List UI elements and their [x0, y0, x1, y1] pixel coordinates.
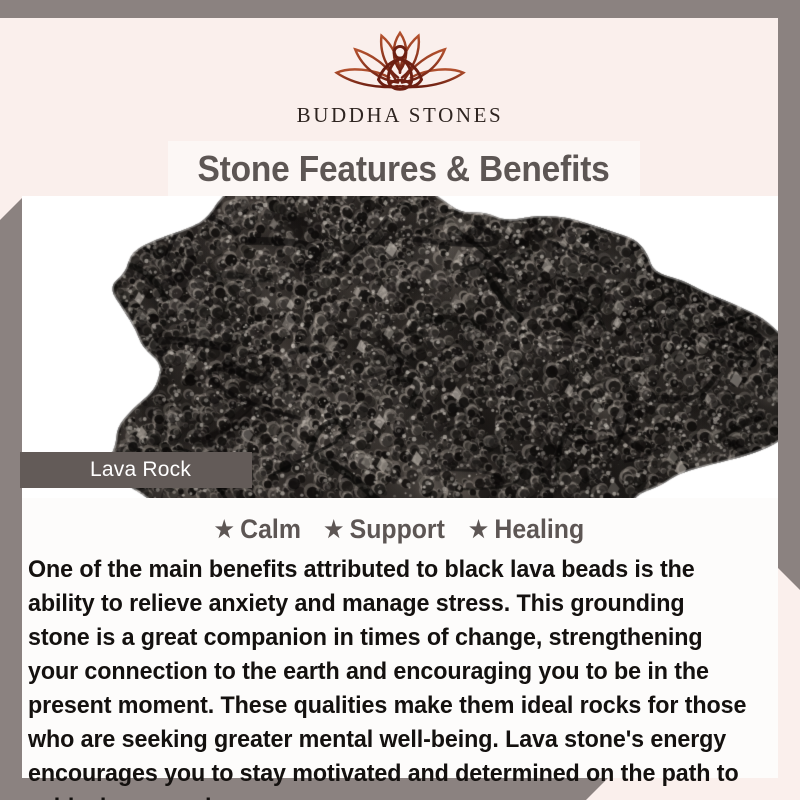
lotus-meditation-icon: [325, 24, 475, 102]
photo-caption-label: Lava Rock: [90, 458, 191, 482]
star-icon: ★: [469, 518, 488, 541]
benefit-item-0: ★ Calm: [215, 514, 301, 545]
frame-left-border: [0, 198, 22, 800]
title-banner: Stone Features & Benefits: [168, 141, 640, 196]
benefit-item-2: ★ Healing: [469, 514, 584, 545]
benefit-label: Healing: [494, 514, 584, 545]
star-icon: ★: [215, 518, 234, 541]
brand-header: BUDDHA STONES: [0, 18, 800, 140]
benefit-item-1: ★ Support: [324, 514, 445, 545]
frame-top-border: [0, 0, 800, 18]
benefit-label: Calm: [240, 514, 301, 545]
page-title: Stone Features & Benefits: [198, 148, 610, 190]
benefits-row: ★ Calm ★ Support ★ Healing: [22, 498, 778, 545]
star-icon: ★: [324, 518, 343, 541]
infographic-card: BUDDHA STONES Stone Features & Benefits …: [0, 0, 800, 800]
content-panel: ★ Calm ★ Support ★ Healing One of the ma…: [22, 498, 778, 778]
brand-wordmark: BUDDHA STONES: [297, 103, 504, 128]
photo-caption-bar: Lava Rock: [20, 452, 252, 488]
description-paragraph: One of the main benefits attributed to b…: [28, 553, 752, 800]
benefit-label: Support: [349, 514, 444, 545]
